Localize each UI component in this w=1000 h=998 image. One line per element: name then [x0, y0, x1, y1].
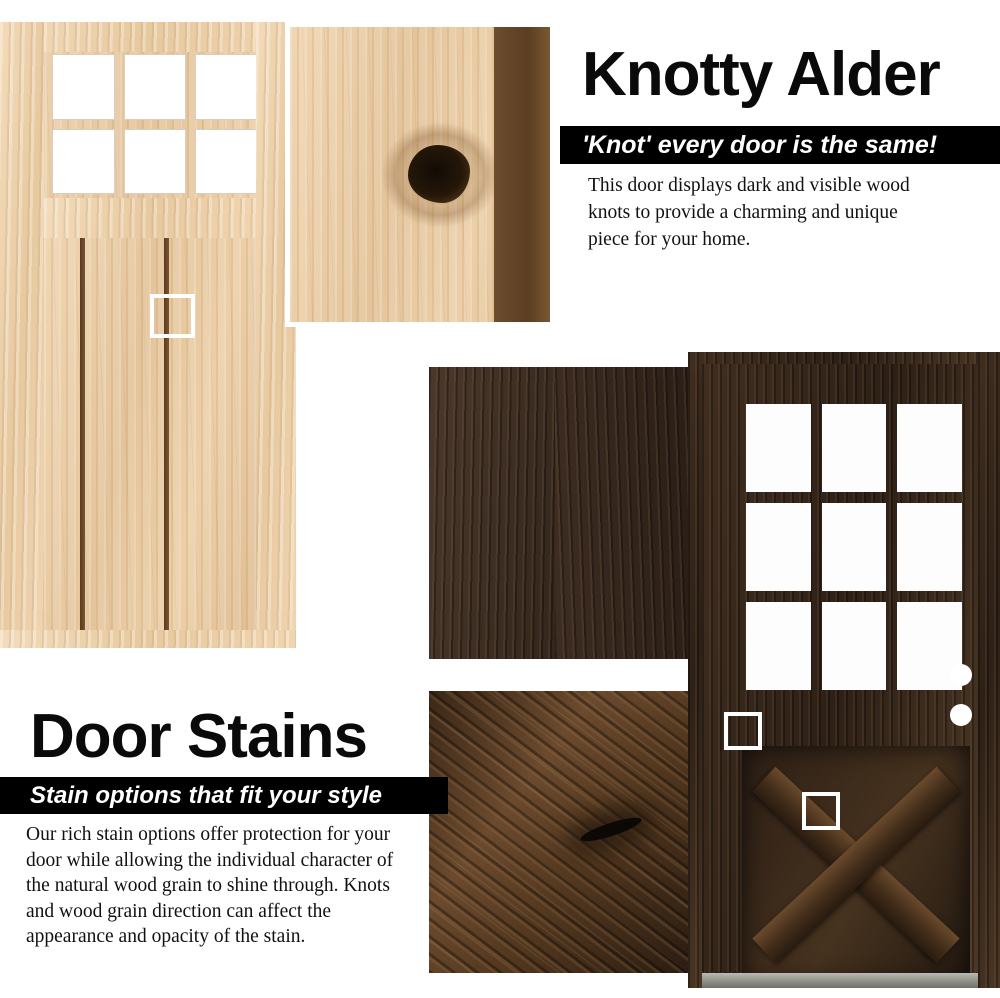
door-top-rail: [0, 22, 296, 52]
glass-lite: [195, 129, 258, 195]
glass-lite: [746, 602, 811, 690]
glass-lite: [52, 54, 115, 120]
knotty-alder-body-text: This door displays dark and visible wood…: [588, 172, 928, 253]
door-deadbolt-hole: [950, 704, 972, 726]
door-bottom-rail: [0, 630, 296, 648]
callout-stained-door-knot: [802, 792, 840, 830]
glass-lite: [897, 503, 962, 591]
stain-swatch-walnut: [425, 687, 695, 977]
door-stains-banner: Stain options that fit your style: [0, 777, 448, 814]
knotty-alder-banner-text: 'Knot' every door is the same!: [582, 131, 937, 160]
callout-light-door-knot: [150, 294, 195, 338]
door-threshold: [702, 973, 978, 988]
glass-lite: [822, 602, 887, 690]
door-left-jamb: [688, 352, 702, 988]
panel-groove: [80, 238, 85, 632]
glass-lite: [124, 54, 187, 120]
door-handle-hole: [950, 664, 972, 686]
glass-lite: [746, 503, 811, 591]
stain-swatch-espresso: [425, 363, 695, 663]
glass-lite: [822, 503, 887, 591]
light-door-image: [0, 22, 296, 648]
knot-closeup-image: [285, 22, 555, 327]
glass-lite: [195, 54, 258, 120]
door-stains-body-text: Our rich stain options offer protection …: [26, 822, 418, 950]
stained-door-lite-grid: [746, 404, 962, 690]
stained-door-image: [688, 352, 1000, 988]
door-right-jamb: [978, 352, 1000, 988]
door-mid-rail: [44, 198, 256, 238]
door-slab: [702, 364, 978, 972]
glass-lite: [124, 129, 187, 195]
x-brace-panel: [742, 746, 970, 984]
wood-knot: [579, 813, 644, 845]
knotty-alder-headline: Knotty Alder: [582, 44, 940, 106]
callout-stained-door-grain: [724, 712, 762, 750]
glass-lite: [897, 404, 962, 492]
light-door-lite-grid: [52, 54, 258, 194]
glass-lite: [746, 404, 811, 492]
door-edge-stripe: [494, 27, 550, 322]
glass-lite: [822, 404, 887, 492]
knotty-alder-banner: 'Knot' every door is the same!: [560, 126, 1000, 164]
door-stains-banner-text: Stain options that fit your style: [30, 782, 382, 810]
swatch-right-half: [555, 367, 691, 659]
swatch-left-half: [429, 367, 555, 659]
door-stains-headline: Door Stains: [30, 706, 367, 768]
wood-knot: [408, 145, 470, 203]
infographic-canvas: Knotty Alder 'Knot' every door is the sa…: [0, 0, 1000, 998]
door-left-stile: [0, 22, 44, 648]
glass-lite: [52, 129, 115, 195]
